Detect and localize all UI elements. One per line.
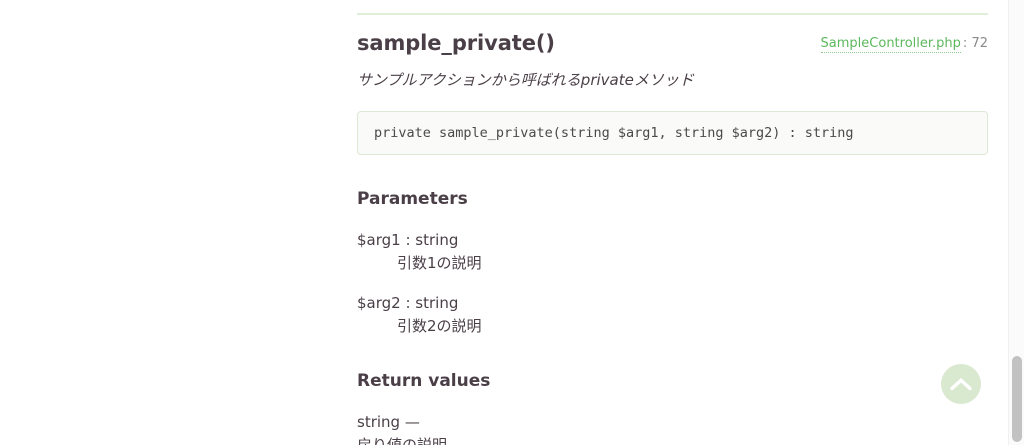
return-type: string — (357, 411, 988, 434)
method-summary: サンプルアクションから呼ばれるprivateメソッド (357, 69, 988, 91)
page-title: sample_private() (357, 29, 555, 57)
source-reference: SampleController.php: 72 (821, 36, 988, 51)
section-divider (357, 13, 988, 15)
scrollbar-thumb[interactable] (1012, 356, 1022, 442)
source-separator: : (961, 36, 967, 51)
back-to-top-button[interactable] (941, 364, 981, 404)
vertical-scrollbar[interactable] (1008, 0, 1024, 445)
list-item: $arg1 : string 引数1の説明 (357, 229, 988, 274)
parameter-description: 引数1の説明 (397, 252, 988, 274)
method-signature-block: private sample_private(string $arg1, str… (357, 111, 988, 155)
source-line-number: 72 (971, 36, 988, 51)
return-description: 戻り値の説明 (357, 434, 988, 445)
method-signature-code: private sample_private(string $arg1, str… (374, 123, 971, 143)
parameter-signature: $arg2 : string (357, 292, 988, 314)
return-values-heading: Return values (357, 369, 988, 393)
method-header: sample_private() SampleController.php: 7… (357, 29, 988, 59)
method-doc-content: sample_private() SampleController.php: 7… (357, 0, 988, 445)
parameter-description: 引数2の説明 (397, 315, 988, 337)
parameter-signature: $arg1 : string (357, 229, 988, 251)
parameters-list: $arg1 : string 引数1の説明 $arg2 : string 引数2… (357, 229, 988, 337)
chevron-up-icon (950, 377, 972, 391)
return-values-block: string — 戻り値の説明 (357, 411, 988, 445)
parameters-heading: Parameters (357, 187, 988, 211)
documentation-page: sample_private() SampleController.php: 7… (0, 0, 1008, 445)
source-file-link[interactable]: SampleController.php (821, 36, 961, 53)
list-item: $arg2 : string 引数2の説明 (357, 292, 988, 337)
